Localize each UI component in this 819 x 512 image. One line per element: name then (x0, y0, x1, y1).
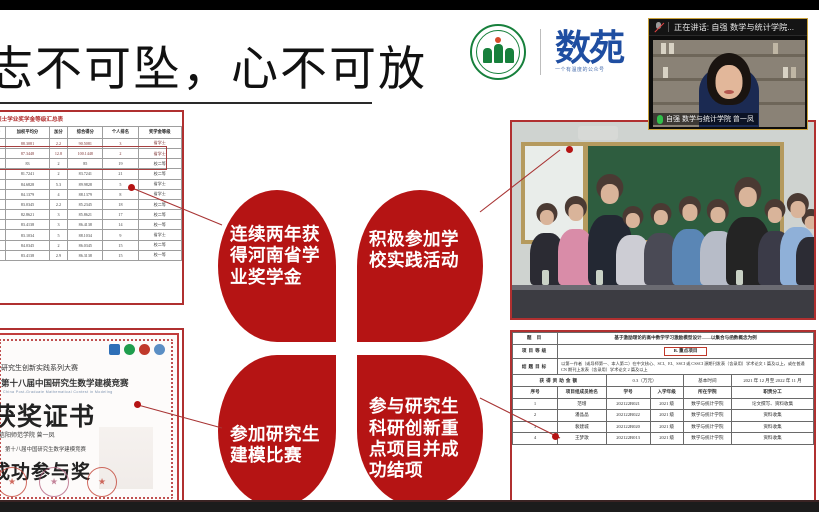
member-col-3: 入学年级 (650, 387, 683, 399)
cell-avg: 83.1034 (6, 230, 49, 240)
screen: 志不可坠，心不可放 数苑 一个有温度的公众号 硕士学业奖学金等级汇总表 分加权平… (0, 0, 819, 512)
cell-avg: 81.7241 (6, 169, 49, 179)
pip-participant-label: 自强 数学与统计学院 曾一凤 (666, 114, 754, 124)
pip-book-3 (773, 43, 778, 54)
petal-modeling[interactable]: 参加研究生建模比赛 (218, 355, 336, 500)
cell-avg: 83.4138 (6, 220, 49, 230)
pip-speaking-label: 正在讲话: 自强 数学与统计学院... (674, 21, 794, 33)
petal-scholarship-label: 连续两年获得河南省学业奖学金 (230, 224, 324, 288)
pip-book-6 (663, 67, 668, 78)
pip-book-1 (661, 43, 666, 54)
cell-rank: 21 (103, 169, 138, 179)
letterbox-bottom (0, 500, 819, 512)
doc-row: 项目等级B. 重点项目 (513, 344, 814, 359)
cell-bonus: 5.3 (49, 179, 68, 189)
member-no: 4 (513, 433, 558, 445)
cell-avg: 83.0345 (6, 199, 49, 209)
table-col-2: 综合得分 (68, 127, 103, 139)
cell-total: 85 (68, 159, 103, 169)
cell-level: 校二等 (138, 240, 181, 250)
cell-level: 校一等 (138, 250, 181, 260)
photo-projector (578, 126, 617, 140)
cell-rank: 19 (103, 159, 138, 169)
member-duty: 论文撰写、资料收集 (732, 398, 814, 410)
member-duty: 资料收集 (732, 433, 814, 445)
member-col-5: 职责分工 (732, 387, 814, 399)
cell-bonus: 3 (49, 220, 68, 230)
member-name: 王梦歌 (558, 433, 606, 445)
cell-avg: 83.4138 (6, 250, 49, 260)
cell-bonus: 2.2 (49, 199, 68, 209)
member-name: 裴建城 (558, 421, 606, 433)
cell-avg: 84.0345 (6, 240, 49, 250)
member-grade: 2021 级 (650, 433, 683, 445)
letterbox-top (0, 0, 819, 10)
member-row: 2潘晶晶202122B0222021 级数学与统计学院资料收集 (513, 410, 814, 422)
member-duty: 资料收集 (732, 410, 814, 422)
cell-bonus: 3 (49, 210, 68, 220)
doc-row-value-0: 基于激励理论的高中数学学习激励模型设计——以集合与函数概念为例 (558, 333, 814, 345)
member-college: 数学与统计学院 (683, 433, 731, 445)
cell-bonus: 5 (49, 230, 68, 240)
certificate-heading: 获奖证书 (0, 397, 95, 433)
wordmark-block: 数苑 一个有温度的公众号 (555, 31, 623, 73)
scholarship-table: 分加权平均分加分综合得分个人排名奖学金等级 88.30812.290.50813… (0, 126, 182, 261)
petal-scholarship[interactable]: 连续两年获得河南省学业奖学金 (218, 190, 336, 342)
certificate-contest-en: China Post-Graduate Mathematical Contest… (3, 390, 113, 394)
wordmark-text: 数苑 (555, 31, 623, 65)
cell-level: 省学士 (138, 179, 181, 189)
pip-speaker-mouth (724, 90, 734, 94)
table-row: 83.1034588.10349省学士 (0, 230, 182, 240)
sponsor-logo-1-icon (109, 344, 120, 355)
table-row: 83.4138386.413814校一等 (0, 220, 182, 230)
cell-total: 86.3138 (68, 250, 103, 260)
university-branding: 数苑 一个有温度的公众号 (470, 24, 623, 80)
logo-divider (540, 29, 541, 75)
award-certificate-image: 研究生创新实践系列大赛 第十八届中国研究生数学建模竞赛 China Post-G… (0, 328, 184, 500)
cell-rank: 9 (103, 230, 138, 240)
cell-level: 校一等 (138, 220, 181, 230)
doc-funding-row: 获得资助金额0.3（万元）基本时间2021 年 12 月至 2022 年 11 … (513, 375, 814, 387)
cell-avg: 87.3448 (6, 148, 49, 158)
cell-total: 90.5081 (68, 138, 103, 148)
member-row: 3裴建城202122B0202021 级数学与统计学院资料收集 (513, 421, 814, 433)
table-row: 82.8621385.862117校二等 (0, 210, 182, 220)
table-row: 87.344812.8100.14482省学士 (0, 148, 182, 158)
official-stamp-2-icon (39, 467, 69, 497)
member-col-0: 序号 (513, 387, 558, 399)
project-document-image: 题 目基于激励理论的高中数学学习激励模型设计——以集合与函数概念为例项目等级B.… (510, 330, 816, 500)
cell-total: 89.9828 (68, 179, 103, 189)
connector-dot-2 (566, 146, 573, 153)
table-col-1: 加分 (49, 127, 68, 139)
petal-practice[interactable]: 积极参加学校实践活动 (357, 190, 483, 342)
cell-total: 86.4138 (68, 220, 103, 230)
certificate-body-text: 第十八届中国研究生数学建模竞赛 (5, 445, 86, 453)
cell-level: 校二等 (138, 199, 181, 209)
scholarship-table-caption: 硕士学业奖学金等级汇总表 (0, 112, 182, 126)
project-level-badge: B. 重点项目 (664, 347, 708, 356)
deadline-label: 基本时间 (683, 375, 731, 387)
cell-rank: 2 (103, 148, 138, 158)
table-row: 83.41382.986.313815校一等 (0, 250, 182, 260)
petal-modeling-label: 参加研究生建模比赛 (230, 424, 324, 467)
cell-level: 省学士 (138, 189, 181, 199)
cell-rank: 18 (103, 199, 138, 209)
video-conference-pip[interactable]: 正在讲话: 自强 数学与统计学院... 自强 数学与统计学院 曾一凤 (648, 18, 808, 130)
photo-bottle-3 (736, 270, 743, 285)
cell-bonus: 2 (49, 240, 68, 250)
table-row: 84.0345286.034515校二等 (0, 240, 182, 250)
sponsor-logo-2-icon (124, 344, 135, 355)
table-row: 84.68285.389.98285省学士 (0, 179, 182, 189)
member-grade: 2021 级 (650, 410, 683, 422)
member-college: 数学与统计学院 (683, 398, 731, 410)
doc-row: 结题目标以第一作者（或导师第一、本人第二）在中文核心、SCI、EI、SSCI 或… (513, 359, 814, 375)
member-college: 数学与统计学院 (683, 421, 731, 433)
member-sid: 202122B020 (606, 421, 650, 433)
photo-desk (512, 285, 814, 318)
cell-level: 校二等 (138, 159, 181, 169)
deadline-value: 2021 年 12 月至 2022 年 11 月 (732, 375, 814, 387)
member-col-4: 所在学院 (683, 387, 731, 399)
pip-header: 正在讲话: 自强 数学与统计学院... (649, 19, 807, 36)
cell-avg: 84.6828 (6, 179, 49, 189)
petal-project[interactable]: 参与研究生科研创新重点项目并成功结项 (357, 355, 483, 500)
scholarship-table-image: 硕士学业奖学金等级汇总表 分加权平均分加分综合得分个人排名奖学金等级 88.30… (0, 110, 184, 305)
member-col-1: 项目组成员姓名 (558, 387, 606, 399)
cell-avg: 83 (6, 159, 49, 169)
cell-bonus: 2.9 (49, 250, 68, 260)
cell-rank: 14 (103, 220, 138, 230)
table-col-0: 加权平均分 (6, 127, 49, 139)
member-duty: 资料收集 (732, 421, 814, 433)
doc-row-value-2: 以第一作者（或导师第一、本人第二）在中文核心、SCI、EI、SSCI 或 CSS… (558, 359, 814, 375)
photo-bottle-2 (596, 270, 603, 285)
microphone-active-icon (657, 115, 663, 124)
doc-row: 题 目基于激励理论的高中数学学习激励模型设计——以集合与函数概念为例 (513, 333, 814, 345)
cell-total: 83.7241 (68, 169, 103, 179)
member-sid: 202122B022 (606, 410, 650, 422)
doc-row-label-0: 题 目 (513, 333, 558, 345)
sponsor-logo-3-icon (139, 344, 150, 355)
university-seal-icon (470, 24, 526, 80)
microphone-muted-icon (654, 22, 663, 33)
cell-bonus: 12.8 (49, 148, 68, 158)
title-underline (0, 102, 372, 104)
member-row: 1范增202122B0212021 级数学与统计学院论文撰写、资料收集 (513, 398, 814, 410)
pip-participant-name: 自强 数学与统计学院 曾一凤 (653, 113, 758, 125)
certificate-contest: 第十八届中国研究生数学建模竞赛 (1, 377, 129, 389)
cell-avg: 82.8621 (6, 210, 49, 220)
cell-bonus: 2.2 (49, 138, 68, 148)
photo-person-11 (796, 237, 816, 285)
member-college: 数学与统计学院 (683, 410, 731, 422)
certificate-series: 研究生创新实践系列大赛 (1, 363, 78, 373)
certificate-recipient: 信阳师范学院 曾一凤 (0, 430, 55, 439)
cell-bonus: 2 (49, 159, 68, 169)
member-sid: 202122B021 (606, 398, 650, 410)
connector-dot-4 (552, 433, 559, 440)
cell-level: 校二等 (138, 210, 181, 220)
member-grade: 2021 级 (650, 421, 683, 433)
cell-total: 86.0345 (68, 240, 103, 250)
cell-bonus: 2 (49, 169, 68, 179)
petal-project-label: 参与研究生科研创新重点项目并成功结项 (369, 396, 471, 481)
cell-total: 100.1448 (68, 148, 103, 158)
cell-level: 省学士 (138, 138, 181, 148)
pip-book-2 (669, 43, 674, 54)
cell-total: 88.1379 (68, 189, 103, 199)
cell-rank: 15 (103, 250, 138, 260)
member-name: 范增 (558, 398, 606, 410)
table-row: 83.03452.285.234518校二等 (0, 199, 182, 209)
certificate-sponsor-logos (109, 344, 165, 355)
cell-bonus: 4 (49, 189, 68, 199)
table-row: 8328519校二等 (0, 159, 182, 169)
member-grade: 2021 级 (650, 398, 683, 410)
group-photo-image (510, 120, 816, 320)
doc-row-label-1: 项目等级 (513, 344, 558, 359)
doc-row-value-1: B. 重点项目 (558, 344, 814, 359)
doc-row-label-2: 结题目标 (513, 359, 558, 375)
member-name: 潘晶晶 (558, 410, 606, 422)
pip-book-4 (783, 67, 788, 78)
table-row: 81.7241283.724121校二等 (0, 169, 182, 179)
cell-total: 85.8621 (68, 210, 103, 220)
table-header-row: 分加权平均分加分综合得分个人排名奖学金等级 (0, 127, 182, 139)
member-sid: 202122B013 (606, 433, 650, 445)
table-col-3: 个人排名 (103, 127, 138, 139)
official-stamp-3-icon (87, 467, 117, 497)
funding-label: 获得资助金额 (513, 375, 607, 387)
cell-rank: 3 (103, 138, 138, 148)
sponsor-logo-4-icon (154, 344, 165, 355)
member-header-row: 序号项目组成员姓名学号入学年级所在学院职责分工 (513, 387, 814, 399)
cell-total: 88.1034 (68, 230, 103, 240)
connector-dot-1 (128, 184, 135, 191)
photo-bottle-1 (542, 270, 549, 285)
funding-value: 0.3（万元） (606, 375, 683, 387)
member-no: 2 (513, 410, 558, 422)
table-row: 88.30812.290.50813省学士 (0, 138, 182, 148)
member-no: 1 (513, 398, 558, 410)
petal-practice-label: 积极参加学校实践活动 (369, 229, 471, 272)
cell-avg: 84.1379 (6, 189, 49, 199)
cell-level: 校二等 (138, 169, 181, 179)
connector-dot-3 (134, 401, 141, 408)
pip-book-5 (791, 67, 796, 78)
table-col-4: 奖学金等级 (138, 127, 181, 139)
cell-avg: 88.3081 (6, 138, 49, 148)
cell-total: 85.2345 (68, 199, 103, 209)
page-title: 志不可坠，心不可放 (0, 30, 427, 99)
table-row: 84.1379488.13798省学士 (0, 189, 182, 199)
member-col-2: 学号 (606, 387, 650, 399)
cell-level: 省学士 (138, 148, 181, 158)
certificate-body: 研究生创新实践系列大赛 第十八届中国研究生数学建模竞赛 China Post-G… (0, 333, 179, 500)
project-document-table: 题 目基于激励理论的高中数学学习激励模型设计——以集合与函数概念为例项目等级B.… (512, 332, 814, 445)
cell-rank: 17 (103, 210, 138, 220)
cell-level: 省学士 (138, 230, 181, 240)
cell-rank: 15 (103, 240, 138, 250)
pip-header-divider (668, 22, 669, 32)
member-no: 3 (513, 421, 558, 433)
